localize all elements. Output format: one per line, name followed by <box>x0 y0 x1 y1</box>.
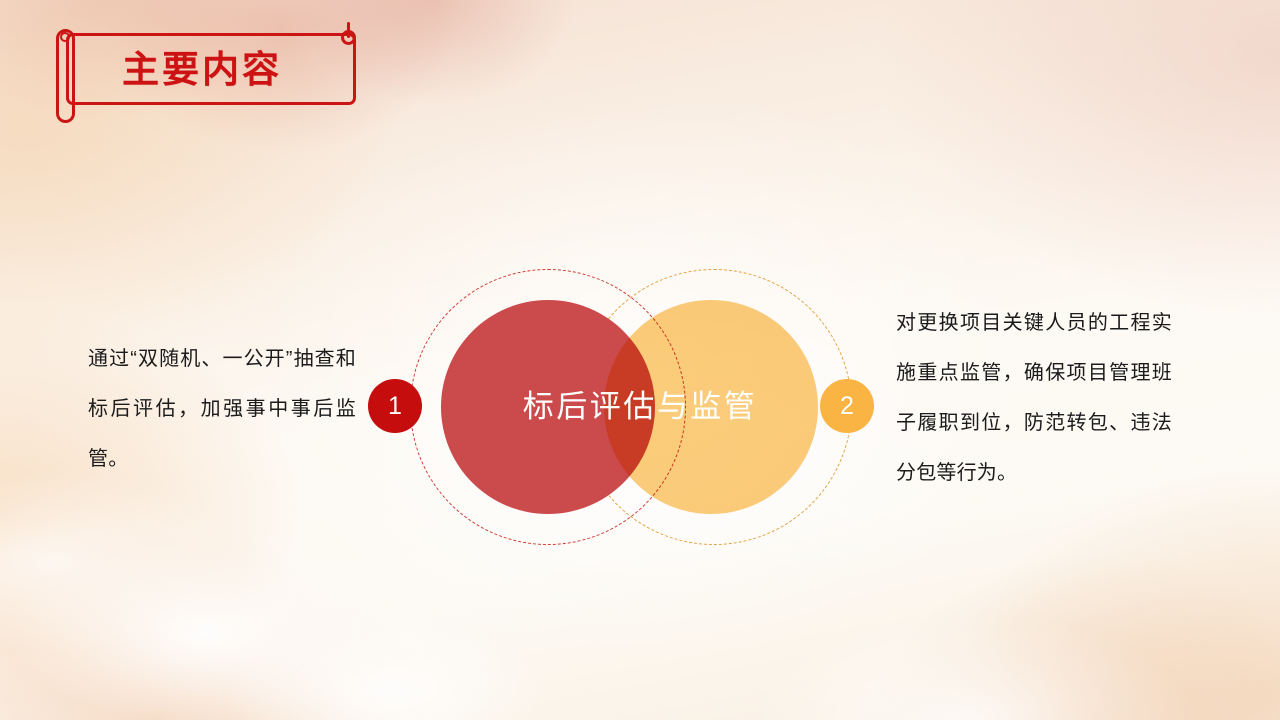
scroll-roll-icon <box>56 29 75 123</box>
hook-ring-icon <box>341 30 356 45</box>
badge-number-2-label: 2 <box>840 394 854 419</box>
badge-number-1-label: 1 <box>388 394 402 419</box>
title-banner: 主要内容 <box>44 22 362 122</box>
venn-center-label: 标后评估与监管 <box>390 386 890 428</box>
item-text-left: 通过“双随机、一公开”抽查和标后评估，加强事中事后监管。 <box>88 334 356 484</box>
scroll-curl-icon <box>60 32 70 42</box>
page-title: 主要内容 <box>122 50 332 90</box>
item-text-right: 对更换项目关键人员的工程实施重点监管，确保项目管理班子履职到位，防范转包、违法分… <box>896 298 1172 498</box>
badge-number-2: 2 <box>820 379 874 433</box>
slide-canvas: 主要内容 标后评估与监管 1 2 通过“双随机、一公开”抽查和标后评估，加强事中… <box>0 0 1280 720</box>
badge-number-1: 1 <box>368 379 422 433</box>
